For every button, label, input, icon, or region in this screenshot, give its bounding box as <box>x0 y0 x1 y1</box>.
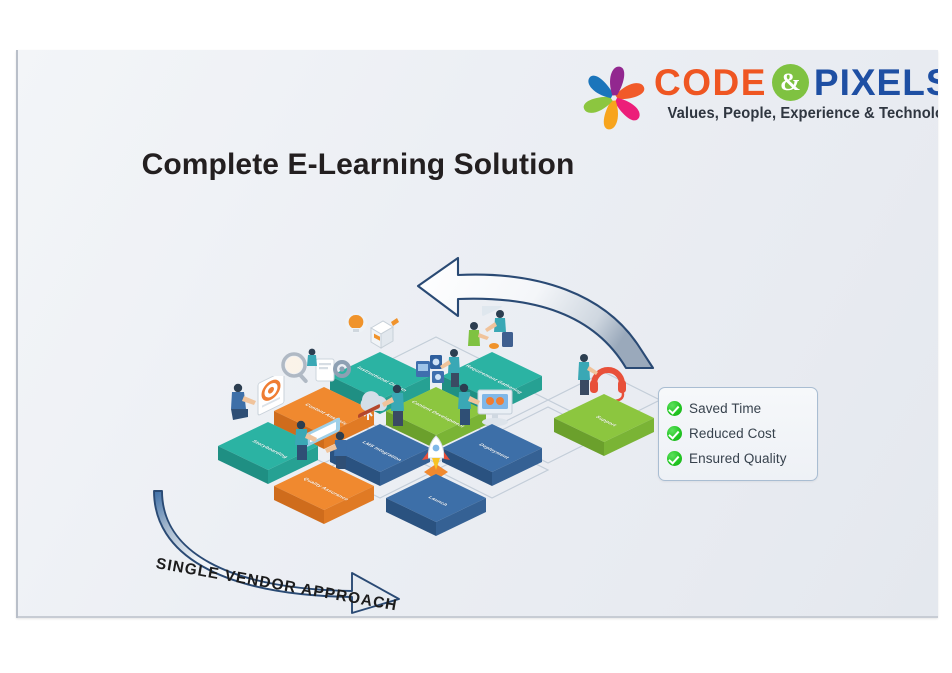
process-block-quality-assurance[interactable]: Quality Assurance <box>268 438 380 524</box>
logo-wordmark: CODE & PIXELS Values, People, Experience… <box>654 60 924 123</box>
benefit-item: Ensured Quality <box>667 446 807 471</box>
benefit-item: Saved Time <box>667 396 807 421</box>
page-title: Complete E-Learning Solution <box>18 148 698 182</box>
pinwheel-logo-icon <box>580 64 648 132</box>
logo-word-pixels: PIXELS <box>814 64 938 101</box>
benefit-label: Reduced Cost <box>689 426 776 441</box>
benefit-item: Reduced Cost <box>667 421 807 446</box>
benefits-card: Saved Time Reduced Cost Ensured Quality <box>658 387 818 481</box>
benefit-label: Saved Time <box>689 401 761 416</box>
benefit-label: Ensured Quality <box>689 451 787 466</box>
logo-ampersand-badge: & <box>772 64 809 101</box>
brand-logo: CODE & PIXELS Values, People, Experience… <box>568 58 928 134</box>
process-block-launch[interactable]: Launch <box>380 450 492 536</box>
check-circle-icon <box>667 451 682 466</box>
check-circle-icon <box>667 401 682 416</box>
logo-word-code: CODE <box>654 64 767 101</box>
logo-brand-line: CODE & PIXELS <box>654 60 924 104</box>
check-circle-icon <box>667 426 682 441</box>
presentation-slide: CODE & PIXELS Values, People, Experience… <box>16 50 938 618</box>
logo-ampersand: & <box>780 70 801 95</box>
logo-tagline: Values, People, Experience & Technology <box>668 105 925 123</box>
process-block-support[interactable]: Support <box>548 370 660 456</box>
